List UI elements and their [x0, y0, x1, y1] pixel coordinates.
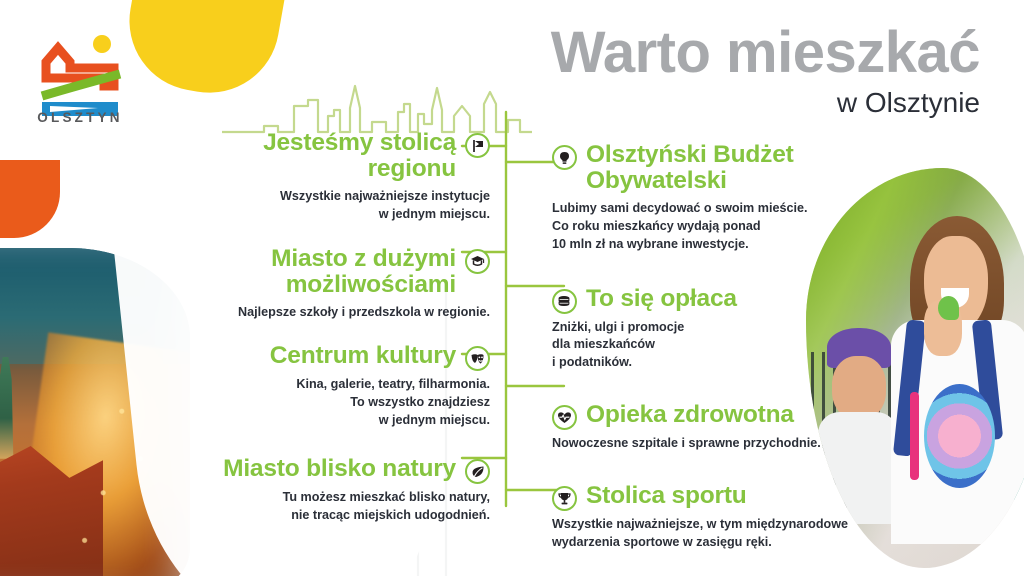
- lightbulb-icon: [552, 145, 577, 170]
- feature-heading-row: Centrum kultury: [190, 343, 490, 371]
- feature-title: Opieka zdrowotna: [586, 402, 794, 428]
- feature-item-nature: Miasto blisko natury Tu możesz mieszkać …: [190, 456, 490, 525]
- feature-title: Jesteśmy stolicą regionu: [190, 130, 456, 183]
- photo-backpack-strap-pink: [910, 392, 919, 480]
- feature-heading-row: Jesteśmy stolicą regionu: [190, 130, 490, 183]
- feature-body: Tu możesz mieszkać blisko natury, nie tr…: [190, 489, 490, 525]
- feature-body: Najlepsze szkoły i przedszkola w regioni…: [190, 304, 490, 322]
- left-feature-column: Jesteśmy stolicą regionu Wszystkie najwa…: [190, 130, 490, 539]
- heart-pulse-icon: [552, 405, 577, 430]
- photo-boy-face: [832, 356, 886, 420]
- graduation-cap-icon: [465, 249, 490, 274]
- flag-icon: [465, 133, 490, 158]
- leaf-icon: [465, 459, 490, 484]
- page-title: Warto mieszkać: [551, 24, 980, 82]
- page-subtitle: w Olsztynie: [551, 82, 980, 124]
- feature-heading-row: Miasto z dużymi możliwościami: [190, 246, 490, 299]
- infographic-poster: OLSZTYN Warto mieszkać w Olsztynie Jeste…: [0, 0, 1024, 576]
- photo-shirt-print: [924, 384, 995, 488]
- feature-item-education: Miasto z dużymi możliwościami Najlepsze …: [190, 246, 490, 322]
- schoolchildren-photo: [806, 168, 1024, 568]
- headline-block: Warto mieszkać w Olsztynie: [551, 24, 980, 124]
- theater-masks-icon: [465, 346, 490, 371]
- feature-title: Miasto z dużymi możliwościami: [190, 246, 456, 299]
- photo-green-token: [938, 296, 959, 320]
- orange-blob-shape: [0, 160, 60, 238]
- photo-boy-shirt: [818, 412, 898, 524]
- feature-title: Stolica sportu: [586, 483, 747, 509]
- feature-title: Miasto blisko natury: [223, 456, 456, 482]
- feature-body: Wszystkie najważniejsze instytucje w jed…: [190, 188, 490, 224]
- coins-icon: [552, 289, 577, 314]
- feature-title: Centrum kultury: [270, 343, 456, 369]
- feature-item-capital: Jesteśmy stolicą regionu Wszystkie najwa…: [190, 130, 490, 224]
- feature-heading-row: Miasto blisko natury: [190, 456, 490, 484]
- logo-wordmark: OLSZTYN: [28, 110, 132, 125]
- feature-title: To się opłaca: [586, 286, 737, 312]
- feature-item-culture: Centrum kultury Kina, galerie, teatry, f…: [190, 343, 490, 430]
- trophy-icon: [552, 486, 577, 511]
- feature-body: Kina, galerie, teatry, filharmonia. To w…: [190, 376, 490, 430]
